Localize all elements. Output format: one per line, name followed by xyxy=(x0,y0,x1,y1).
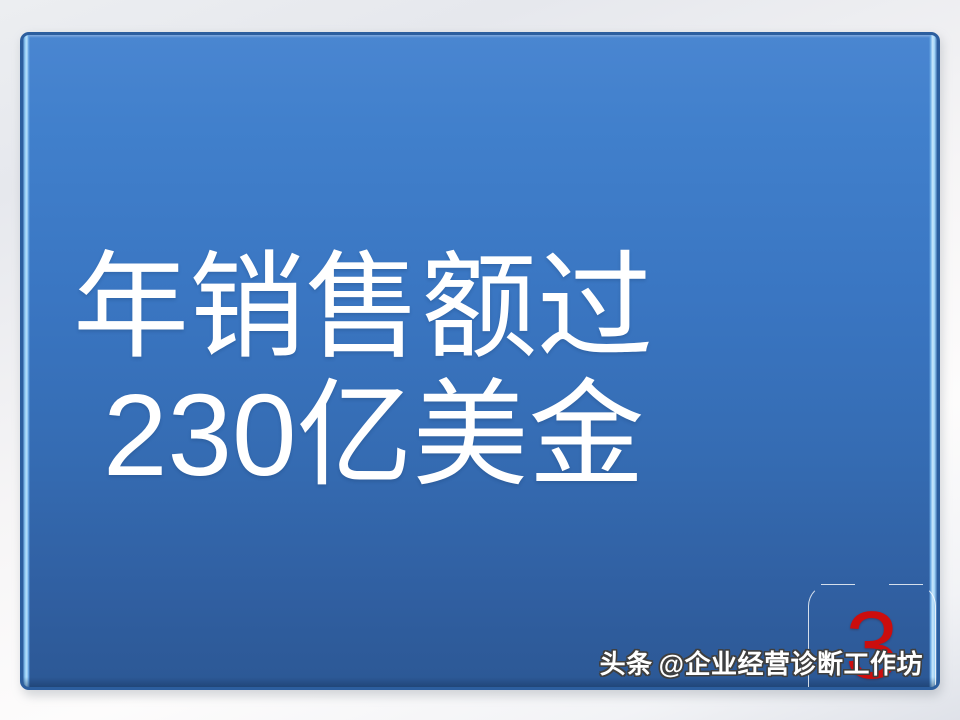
headline-line-1: 年销售额过 xyxy=(23,243,937,371)
watermark: 头条@企业经营诊断工作坊 xyxy=(600,647,923,681)
presentation-slide[interactable]: 年销售额过 230亿美金 3 头条@企业经营诊断工作坊 xyxy=(20,32,940,690)
watermark-handle: @企业经营诊断工作坊 xyxy=(659,649,923,679)
headline-line-2: 230亿美金 xyxy=(23,371,937,499)
slide-bevel-top-edge xyxy=(23,35,937,38)
slide-headline: 年销售额过 230亿美金 xyxy=(23,243,937,499)
slide-canvas: 年销售额过 230亿美金 3 头条@企业经营诊断工作坊 xyxy=(0,0,960,720)
watermark-brand: 头条 xyxy=(600,649,653,679)
